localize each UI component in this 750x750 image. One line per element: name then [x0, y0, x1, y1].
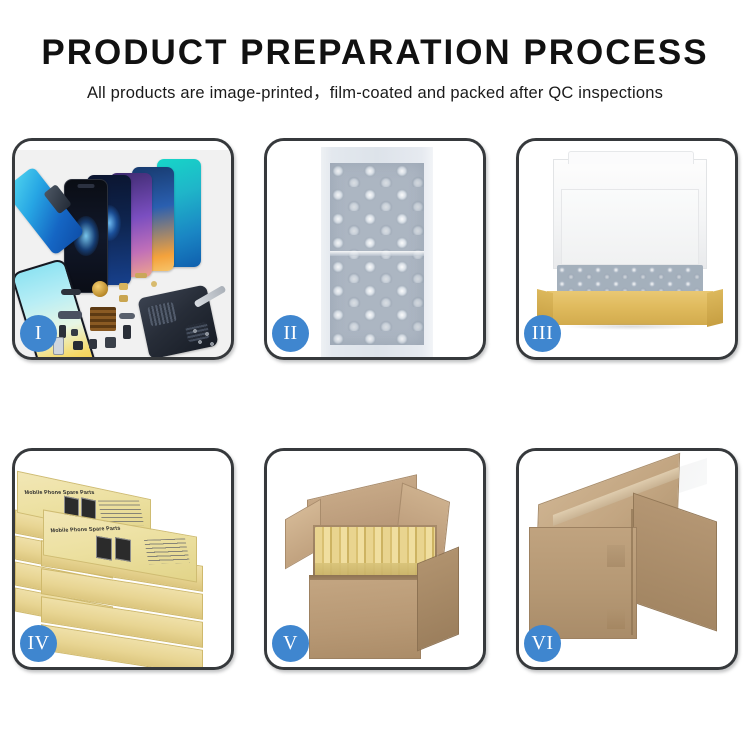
step-panel-2[interactable]: II	[264, 138, 486, 360]
spare-part	[61, 289, 81, 295]
step-badge-6: VI	[524, 625, 561, 662]
retail-box-label: Mobile Phone Spare Parts	[24, 490, 95, 496]
spare-part	[73, 341, 83, 350]
drop-shadow	[565, 323, 697, 330]
step-panel-5[interactable]: V	[264, 448, 486, 670]
mailer-box-body	[547, 291, 713, 325]
carton-edge	[631, 509, 633, 635]
spare-part	[58, 311, 82, 319]
mailer-box-foam	[561, 189, 699, 265]
page-header: PRODUCT PREPARATION PROCESS All products…	[0, 0, 750, 104]
step-panel-3[interactable]: III	[516, 138, 738, 360]
bubble-wrap-seam	[330, 251, 424, 256]
step-badge-2: II	[272, 315, 309, 352]
screws	[191, 327, 217, 349]
step-badge-1: I	[20, 315, 57, 352]
spare-part	[123, 325, 131, 339]
carton-flap-tab	[607, 545, 625, 567]
page-subtitle: All products are image-printed，film-coat…	[0, 82, 750, 104]
label-screen-swatch	[96, 536, 112, 561]
step-panel-1[interactable]: I	[12, 138, 234, 360]
step-panel-6[interactable]: VI	[516, 448, 738, 670]
spare-part	[135, 273, 147, 278]
page-title: PRODUCT PREPARATION PROCESS	[0, 33, 750, 73]
step-panel-4[interactable]: Mobile Phone Spare Parts Mobile Phone Sp…	[12, 448, 234, 670]
spare-part	[90, 307, 116, 331]
spare-part	[119, 313, 135, 319]
spare-part	[89, 339, 97, 349]
spare-part	[71, 329, 78, 336]
spare-part	[92, 281, 108, 297]
label-spec-lines	[144, 538, 190, 564]
step-badge-4: IV	[20, 625, 57, 662]
carton-side-face	[417, 547, 459, 652]
label-screen-swatch	[115, 537, 131, 562]
spare-part	[105, 337, 116, 348]
retail-box-label: Mobile Phone Spare Parts	[50, 526, 121, 535]
step-badge-3: III	[524, 315, 561, 352]
spare-part	[119, 295, 128, 302]
spare-part	[119, 283, 128, 290]
carton-flap-tab	[607, 609, 625, 629]
step-badge-5: V	[272, 625, 309, 662]
spare-part	[151, 281, 157, 287]
process-step-grid: I II III	[12, 138, 738, 670]
carton-front-face	[309, 579, 421, 659]
bubble-wrap-pouch	[321, 147, 433, 357]
